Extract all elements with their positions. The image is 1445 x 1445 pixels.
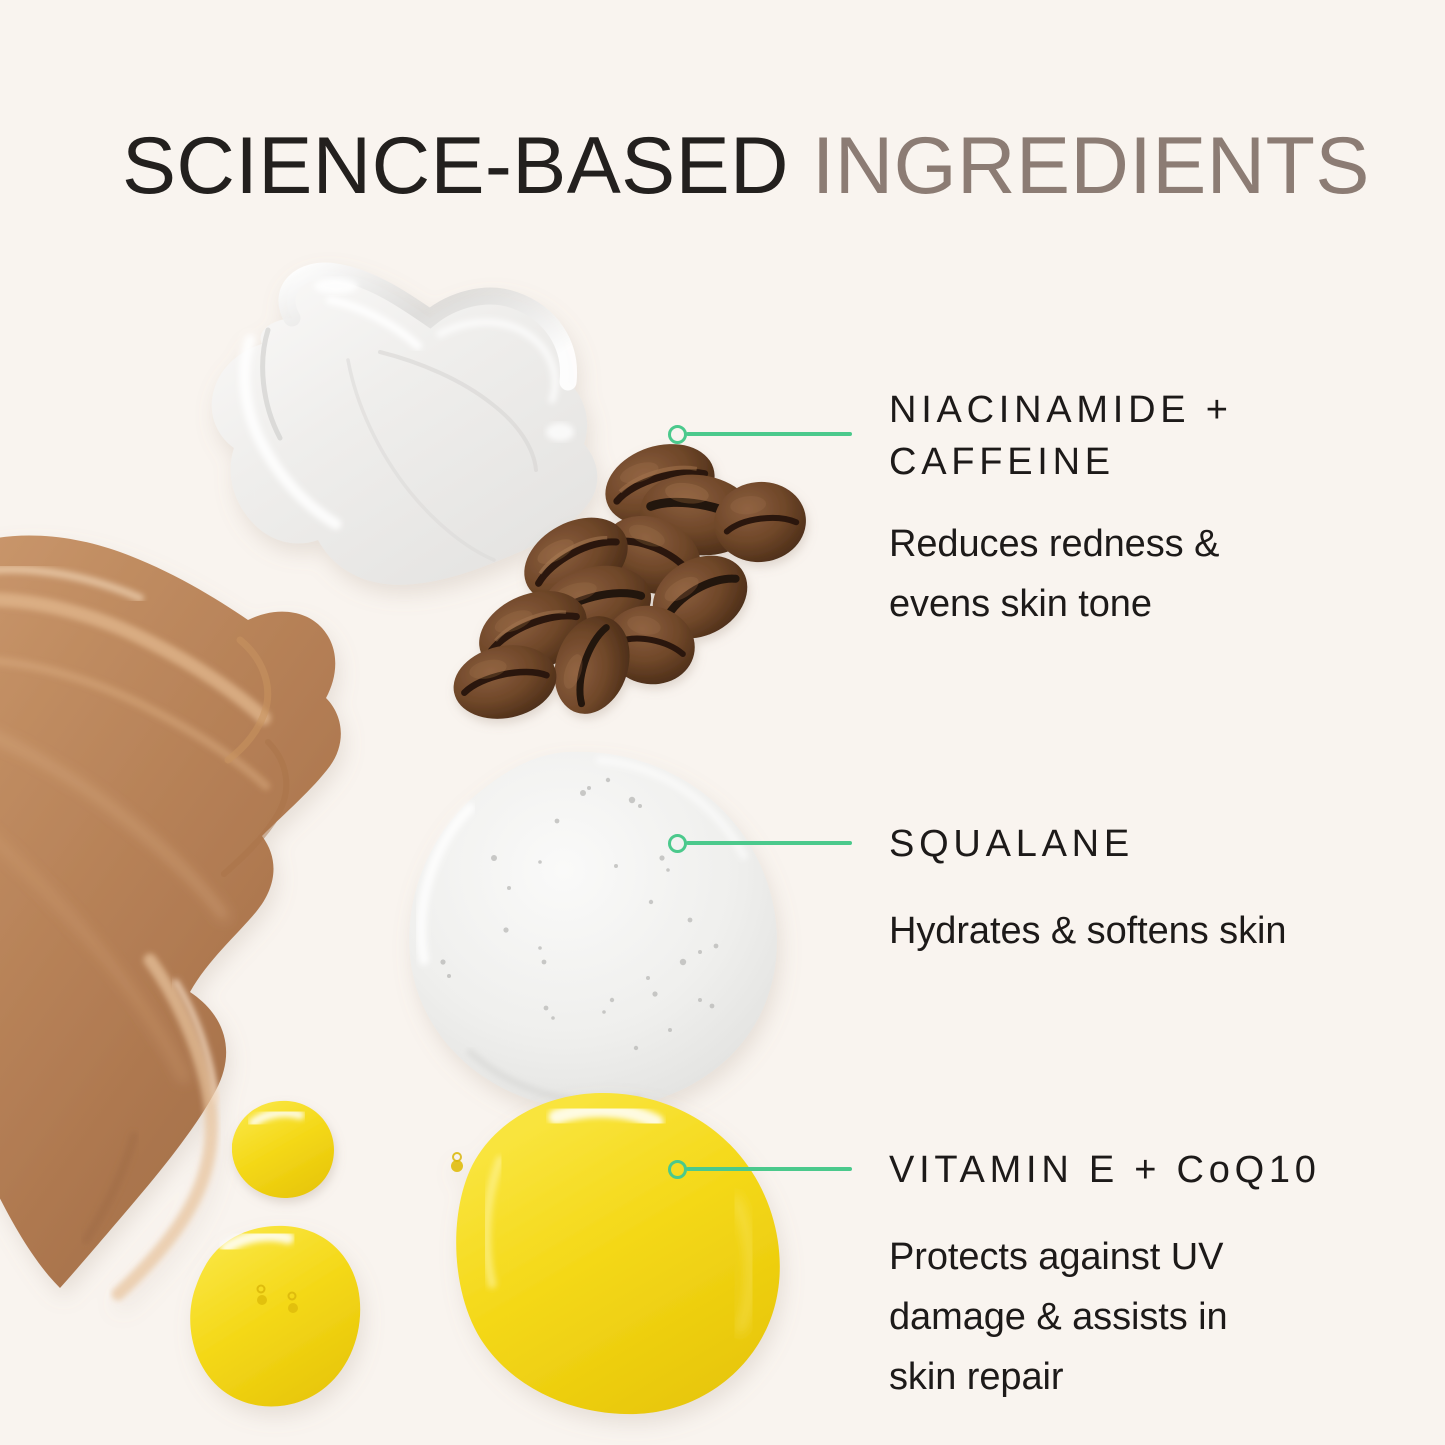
connector-niacinamide-caffeine	[668, 424, 852, 444]
clear-gel-droplet-swatch	[409, 752, 777, 1110]
connector-line-icon	[686, 432, 852, 435]
clear-gel-smear-swatch	[212, 271, 598, 585]
callout-squalane: SQUALANE Hydrates & softens skin	[889, 819, 1389, 961]
callout-body-vitamin-e-coq10: Protects against UV damage & assists in …	[889, 1227, 1389, 1407]
connector-vitamin-e-coq10	[668, 1159, 852, 1179]
callout-heading-niacinamide-caffeine: NIACINAMIDE + CAFFEINE	[889, 385, 1389, 488]
connector-line-icon	[686, 841, 852, 844]
yellow-oil-droplets-swatch	[190, 1093, 780, 1414]
connector-line-icon	[686, 1167, 852, 1170]
callout-heading-squalane: SQUALANE	[889, 819, 1389, 871]
ingredients-infographic: SCIENCE-BASED INGREDIENTS	[0, 0, 1445, 1445]
callout-heading-vitamin-e-coq10: VITAMIN E + CoQ10	[889, 1145, 1389, 1197]
connector-dot-icon	[668, 834, 687, 853]
callout-vitamin-e-coq10: VITAMIN E + CoQ10 Protects against UV da…	[889, 1145, 1389, 1407]
callout-niacinamide-caffeine: NIACINAMIDE + CAFFEINE Reduces redness &…	[889, 385, 1389, 634]
connector-dot-icon	[668, 425, 687, 444]
callout-body-niacinamide-caffeine: Reduces redness & evens skin tone	[889, 514, 1389, 634]
connector-squalane	[668, 833, 852, 853]
callout-body-squalane: Hydrates & softens skin	[889, 901, 1389, 961]
connector-dot-icon	[668, 1160, 687, 1179]
